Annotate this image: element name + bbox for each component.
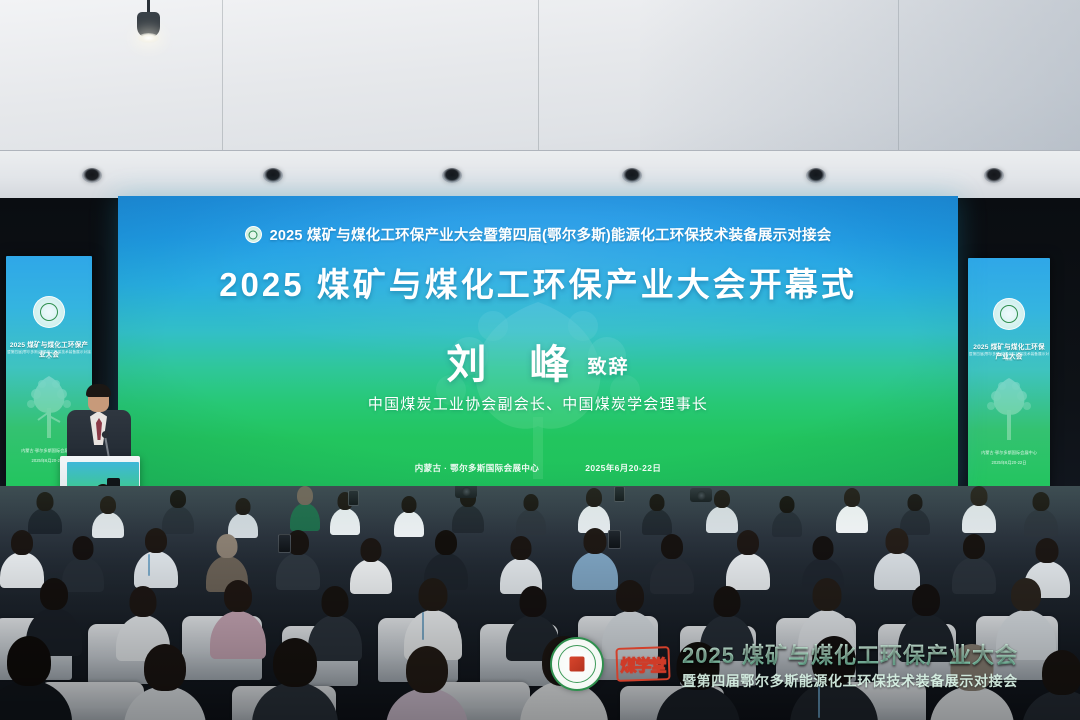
speaker-hair <box>86 384 111 397</box>
audience-member <box>0 636 72 720</box>
audience-member <box>962 486 996 532</box>
ceiling-downlight-icon <box>82 168 102 183</box>
tree-graphic-icon <box>978 370 1040 442</box>
pendant-light-glow <box>138 33 159 43</box>
led-main-title: 2025 煤矿与煤化工环保产业大会开幕式 <box>118 258 958 306</box>
video-camera-icon <box>690 488 712 502</box>
conference-photo: 2025 煤矿与煤化工环保产业大会 暨第四届(鄂尔多斯)能源化工环保技术装备展示… <box>0 0 1080 720</box>
hall-ceiling <box>0 0 1080 150</box>
audience-member <box>290 486 320 530</box>
audience-member <box>28 492 62 532</box>
bottom-banner-subtitle: 暨第四届鄂尔多斯能源化工环保技术装备展示对接会 <box>682 671 1080 691</box>
led-footer-venue: 内蒙古 · 鄂尔多斯国际会展中心 <box>415 462 539 474</box>
smartphone-icon <box>608 530 621 549</box>
audience-member <box>642 494 672 534</box>
coal-school-logo-icon: 煤学堂 <box>614 641 672 687</box>
ceiling-downlight-icon <box>984 168 1004 183</box>
ceiling-soffit <box>0 150 1080 199</box>
audience-member <box>124 644 206 720</box>
bottom-conference-banner: 煤学堂 2025 煤矿与煤化工环保产业大会 暨第四届鄂尔多斯能源化工环保技术装备… <box>540 632 1080 696</box>
audience-member <box>1024 492 1058 536</box>
audience-member <box>350 538 392 592</box>
conference-emblem-icon <box>245 226 262 243</box>
audience-member <box>252 638 338 720</box>
led-header-text: 2025 煤矿与煤化工环保产业大会暨第四届(鄂尔多斯)能源化工环保技术装备展示对… <box>270 224 832 245</box>
audience-member <box>952 534 996 592</box>
led-speaker-name: 刘 峰 <box>446 343 585 387</box>
ceiling-downlight-icon <box>622 168 642 183</box>
audience-member <box>134 528 178 586</box>
smartphone-icon <box>278 534 291 553</box>
audience-member <box>726 530 770 588</box>
audience-member <box>874 528 920 588</box>
led-speaker-row: 刘 峰致辞 <box>118 332 958 390</box>
audience-member <box>92 496 124 536</box>
audience-member <box>578 488 610 532</box>
audience-member <box>228 498 258 536</box>
audience-member <box>772 496 802 536</box>
audience-member <box>516 494 546 534</box>
banner-subtitle: 暨第四届(鄂尔多斯)能源化工环保技术装备展示对接会 <box>6 350 92 360</box>
led-footer-row: 内蒙古 · 鄂尔多斯国际会展中心 2025年6月20-22日 <box>118 462 958 474</box>
bottom-banner-title: 2025 煤矿与煤化工环保产业大会 <box>682 638 1080 670</box>
audience-member <box>500 536 542 592</box>
led-header-row: 2025 煤矿与煤化工环保产业大会暨第四届(鄂尔多斯)能源化工环保技术装备展示对… <box>118 224 958 245</box>
banner-emblem-icon <box>993 298 1025 330</box>
ceiling-downlight-icon <box>806 168 826 183</box>
main-led-screen: 2025 煤矿与煤化工环保产业大会暨第四届(鄂尔多斯)能源化工环保技术装备展示对… <box>118 196 958 492</box>
audience-member <box>162 490 194 532</box>
side-banner-right: 2025 煤矿与煤化工环保产业大会 暨第四届(鄂尔多斯)能源化工环保技术装备展示… <box>968 258 1050 490</box>
ceiling-downlight-icon <box>442 168 462 183</box>
audience-member <box>404 578 462 656</box>
ceiling-downlight-icon <box>263 168 283 183</box>
led-speaker-role: 中国煤炭工业协会副会长、中国煤炭学会理事长 <box>118 393 958 414</box>
audience-member <box>836 488 868 532</box>
smartphone-icon <box>614 486 625 502</box>
led-speaker-action: 致辞 <box>588 357 630 378</box>
audience-member <box>394 496 424 536</box>
smartphone-icon <box>348 490 359 506</box>
banner-subtitle: 暨第四届(鄂尔多斯)能源化工环保技术装备展示对接会 <box>968 352 1050 362</box>
association-seal-icon <box>550 637 604 691</box>
banner-venue: 内蒙古·鄂尔多斯国际会展中心 <box>968 450 1050 456</box>
video-camera-icon <box>455 486 477 498</box>
banner-date: 2025年6月20-22日 <box>968 460 1050 466</box>
audience-member <box>386 646 468 720</box>
banner-emblem-icon <box>33 296 65 328</box>
bottom-banner-text: 2025 煤矿与煤化工环保产业大会 暨第四届鄂尔多斯能源化工环保技术装备展示对接… <box>682 638 1080 691</box>
led-footer-date: 2025年6月20-22日 <box>585 462 661 474</box>
